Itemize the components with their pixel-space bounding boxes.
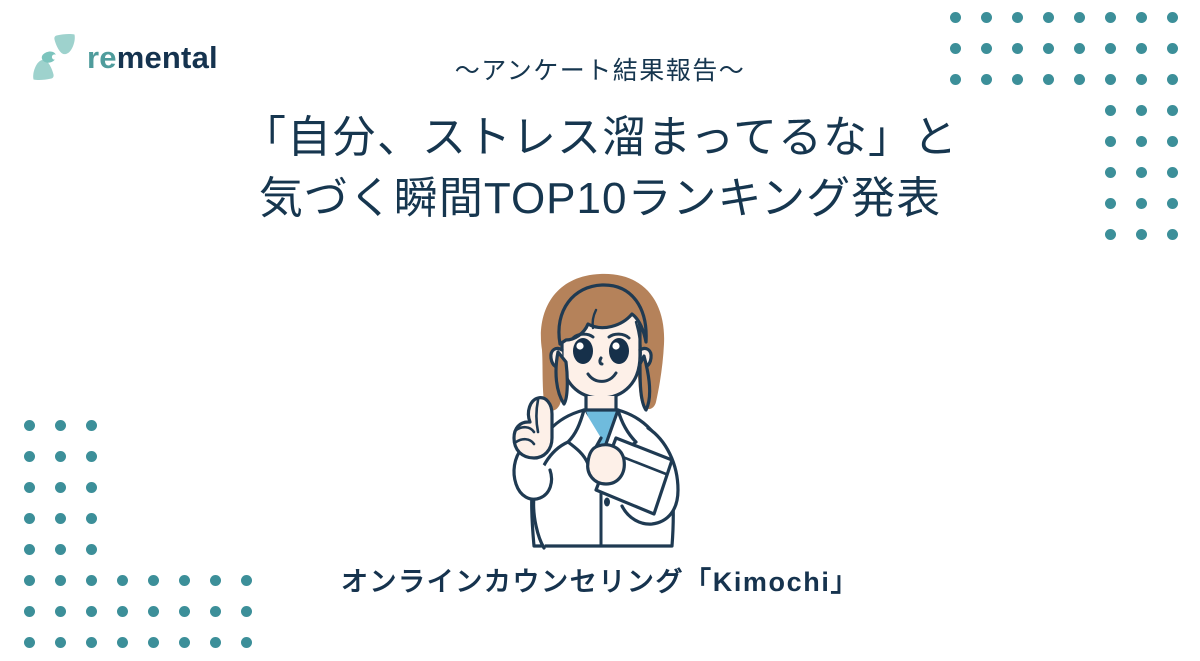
decorative-dot — [1167, 167, 1178, 178]
decorative-dot — [86, 637, 97, 648]
decorative-dot — [1136, 229, 1147, 240]
decorative-dot — [55, 451, 66, 462]
decorative-dot — [1167, 229, 1178, 240]
decorative-dot — [1136, 167, 1147, 178]
decorative-dot — [1012, 74, 1023, 85]
decorative-dot — [179, 575, 190, 586]
decorative-dot — [1136, 136, 1147, 147]
decorative-dot — [117, 575, 128, 586]
decorative-dot — [1136, 43, 1147, 54]
decorative-dot — [1167, 74, 1178, 85]
decorative-dot — [117, 606, 128, 617]
decorative-dot — [1043, 12, 1054, 23]
decorative-dot — [1105, 229, 1116, 240]
slide-canvas: remental 〜アンケート結果報告〜 「自分、ストレス溜まってるな」と 気づ… — [0, 0, 1200, 661]
decorative-dot — [1043, 43, 1054, 54]
decorative-dot — [1105, 167, 1116, 178]
decorative-dot — [179, 637, 190, 648]
decorative-dot — [24, 451, 35, 462]
decorative-dot — [86, 544, 97, 555]
decorative-dot — [148, 575, 159, 586]
decorative-dot — [950, 43, 961, 54]
decorative-dot — [1105, 12, 1116, 23]
decorative-dot — [1105, 43, 1116, 54]
decorative-dot — [1074, 12, 1085, 23]
decorative-dot — [24, 575, 35, 586]
decorative-dot — [1012, 43, 1023, 54]
decorative-dot — [210, 575, 221, 586]
decorative-dot — [1012, 12, 1023, 23]
decorative-dot — [981, 74, 992, 85]
decorative-dot — [1105, 198, 1116, 209]
decorative-dot — [1105, 105, 1116, 116]
decorative-dots-top-right — [950, 12, 1200, 252]
decorative-dot — [86, 420, 97, 431]
decorative-dot — [1167, 198, 1178, 209]
decorative-dot — [24, 606, 35, 617]
decorative-dot — [1136, 198, 1147, 209]
decorative-dot — [981, 43, 992, 54]
decorative-dot — [86, 451, 97, 462]
decorative-dot — [148, 637, 159, 648]
decorative-dot — [1105, 136, 1116, 147]
decorative-dot — [86, 482, 97, 493]
decorative-dot — [55, 637, 66, 648]
decorative-dot — [55, 482, 66, 493]
decorative-dot — [55, 606, 66, 617]
decorative-dot — [24, 482, 35, 493]
decorative-dot — [86, 575, 97, 586]
decorative-dot — [241, 575, 252, 586]
decorative-dot — [24, 637, 35, 648]
decorative-dot — [148, 606, 159, 617]
decorative-dot — [981, 12, 992, 23]
decorative-dot — [241, 606, 252, 617]
decorative-dot — [1105, 74, 1116, 85]
decorative-dot — [55, 544, 66, 555]
decorative-dot — [24, 513, 35, 524]
decorative-dot — [1136, 105, 1147, 116]
decorative-dot — [241, 637, 252, 648]
decorative-dot — [1043, 74, 1054, 85]
decorative-dot — [950, 12, 961, 23]
decorative-dot — [24, 544, 35, 555]
decorative-dot — [1167, 43, 1178, 54]
decorative-dot — [24, 420, 35, 431]
decorative-dot — [1167, 12, 1178, 23]
decorative-dot — [1074, 43, 1085, 54]
decorative-dot — [55, 575, 66, 586]
decorative-dot — [1167, 136, 1178, 147]
decorative-dot — [86, 513, 97, 524]
decorative-dot — [1167, 105, 1178, 116]
decorative-dot — [1074, 74, 1085, 85]
decorative-dot — [210, 637, 221, 648]
decorative-dot — [950, 74, 961, 85]
decorative-dot — [55, 513, 66, 524]
decorative-dot — [179, 606, 190, 617]
decorative-dot — [86, 606, 97, 617]
decorative-dot — [1136, 12, 1147, 23]
decorative-dot — [117, 637, 128, 648]
decorative-dot — [210, 606, 221, 617]
decorative-dot — [1136, 74, 1147, 85]
counselor-woman-pointing-up-illustration — [476, 252, 726, 552]
decorative-dot — [55, 420, 66, 431]
decorative-dots-bottom-left — [24, 420, 279, 650]
